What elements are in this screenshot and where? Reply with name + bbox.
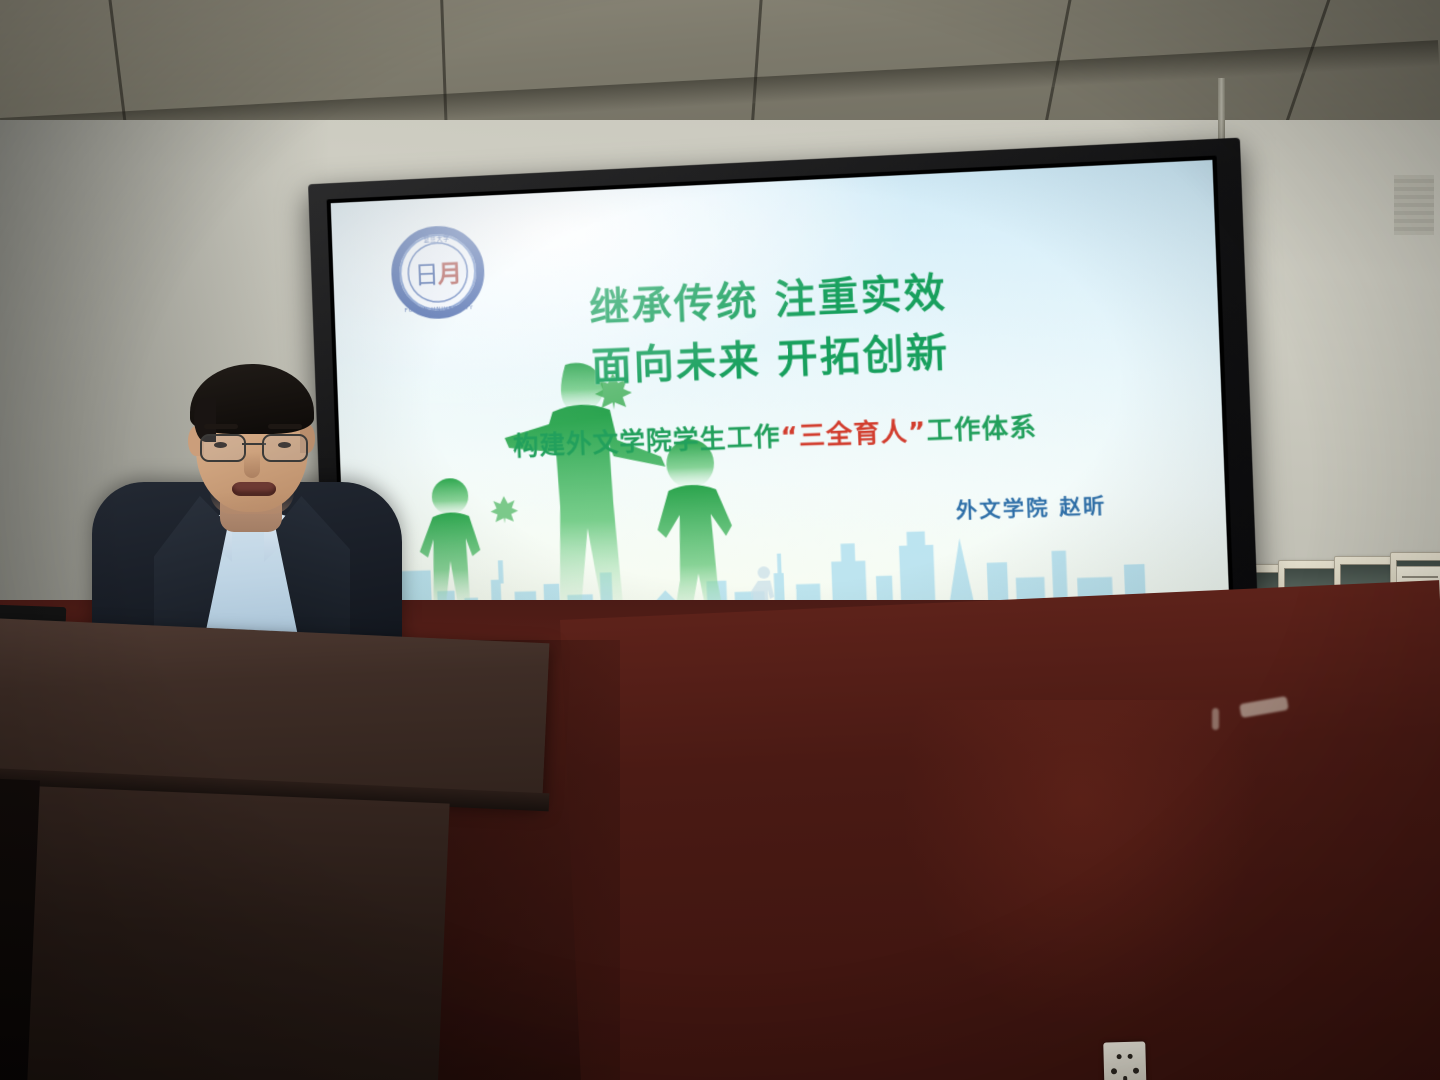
wainscot-sheen <box>900 700 1260 1030</box>
lens-right <box>262 434 308 462</box>
podium-body <box>16 786 449 1080</box>
lens-left <box>200 434 246 462</box>
nose <box>244 452 260 478</box>
maple-leaf-lower <box>488 494 520 525</box>
slide-subtitle: 构建外文学院学生工作“三全育人”工作体系 <box>339 400 1223 469</box>
lecture-room-photo: 复旦大学 日月 FUDAN UNIVERSITY 继承传统 注重实效 面向未来 … <box>0 0 1440 1080</box>
slide-presenter: 外文学院 赵昕 <box>955 489 1107 524</box>
chin-shadow <box>210 492 294 514</box>
subtitle-post: 工作体系 <box>926 412 1038 446</box>
child-silhouette-right <box>629 435 760 622</box>
eyebrow-right <box>268 424 302 429</box>
wall-vent <box>1394 175 1434 235</box>
wall-mark-small <box>1212 708 1219 730</box>
display-screen[interactable]: 复旦大学 日月 FUDAN UNIVERSITY 继承传统 注重实效 面向未来 … <box>331 160 1231 652</box>
eyebrow-left <box>204 424 238 429</box>
subtitle-quoted: “三全育人” <box>780 416 927 451</box>
wooden-podium <box>0 618 560 1080</box>
wall-power-outlet[interactable] <box>1103 1041 1147 1080</box>
